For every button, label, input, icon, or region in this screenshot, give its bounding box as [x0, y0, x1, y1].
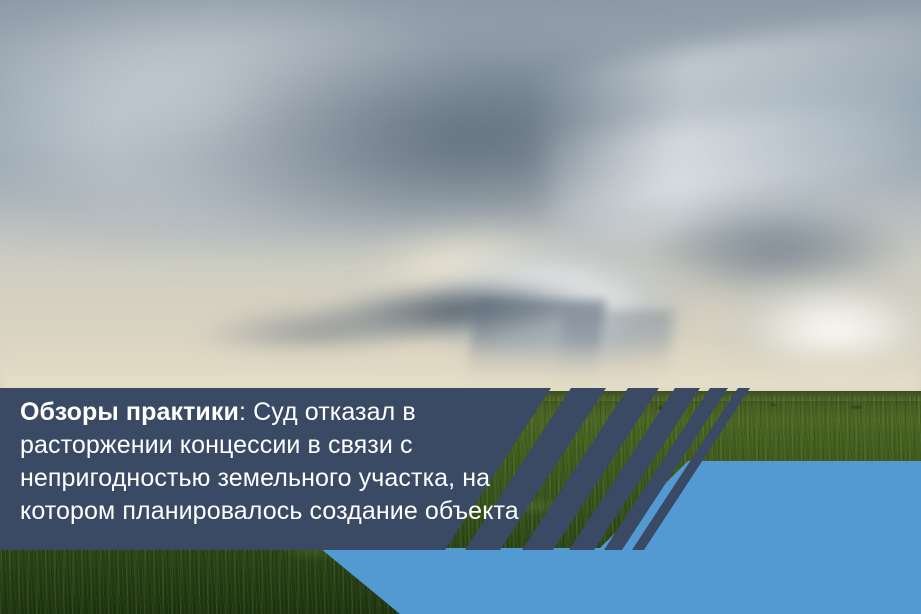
headline-separator: :: [239, 398, 253, 426]
headline-lead: Обзоры практики: [20, 398, 239, 426]
headline: Обзоры практики: Суд отказал в расторжен…: [20, 396, 540, 528]
promo-banner: Обзоры практики: Суд отказал в расторжен…: [0, 0, 921, 614]
